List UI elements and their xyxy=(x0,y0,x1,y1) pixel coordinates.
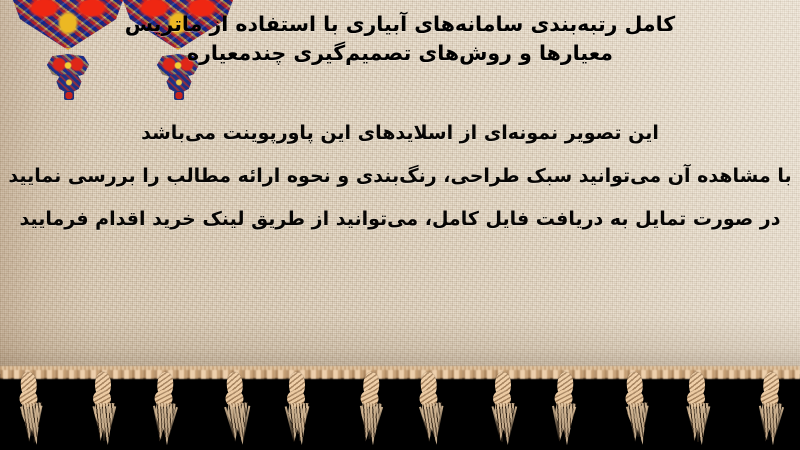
slide-body-line-3: در صورت تمایل به دریافت فایل کامل، می‌تو… xyxy=(0,198,800,241)
fringe-tassel xyxy=(413,369,447,448)
tassel-strand xyxy=(697,406,699,442)
fringe-tassel xyxy=(488,370,518,448)
fringe-tassel xyxy=(13,369,47,448)
fringe-tassel xyxy=(753,369,787,448)
presentation-slide: کامل رتبه‌بندی سامانه‌های آبیاری با استف… xyxy=(0,0,800,450)
slide-body-text: این تصویر نمونه‌ای از اسلایدهای این پاور… xyxy=(0,112,800,241)
tassel-strand xyxy=(503,406,505,427)
fringe-rope xyxy=(0,370,800,379)
tassel-strand xyxy=(103,406,105,441)
fringe-tassel xyxy=(147,369,181,448)
medallion-pendant-tip-icon xyxy=(64,91,74,100)
fringe-tassel xyxy=(682,370,712,448)
fringe-tassel xyxy=(353,369,387,448)
fringe-tassel xyxy=(282,370,312,448)
slide-title: کامل رتبه‌بندی سامانه‌های آبیاری با استف… xyxy=(0,10,800,68)
fringe-tassel xyxy=(547,369,581,448)
tassel-strand xyxy=(297,406,299,434)
slide-title-line-1: کامل رتبه‌بندی سامانه‌های آبیاری با استف… xyxy=(0,10,800,39)
medallion-pendant-tip-icon xyxy=(174,91,184,100)
slide-body-line-2: با مشاهده آن می‌توانید سبک طراحی، رنگ‌بن… xyxy=(0,155,800,198)
carpet-fringe xyxy=(0,370,800,450)
slide-body-line-1: این تصویر نمونه‌ای از اسلایدهای این پاور… xyxy=(0,112,800,155)
fringe-tassel xyxy=(219,369,253,448)
slide-title-line-2: معیارها و روش‌های تصمیم‌گیری چندمعیاره xyxy=(0,39,800,68)
fringe-tassel xyxy=(88,370,118,448)
fringe-tassel xyxy=(619,369,653,448)
